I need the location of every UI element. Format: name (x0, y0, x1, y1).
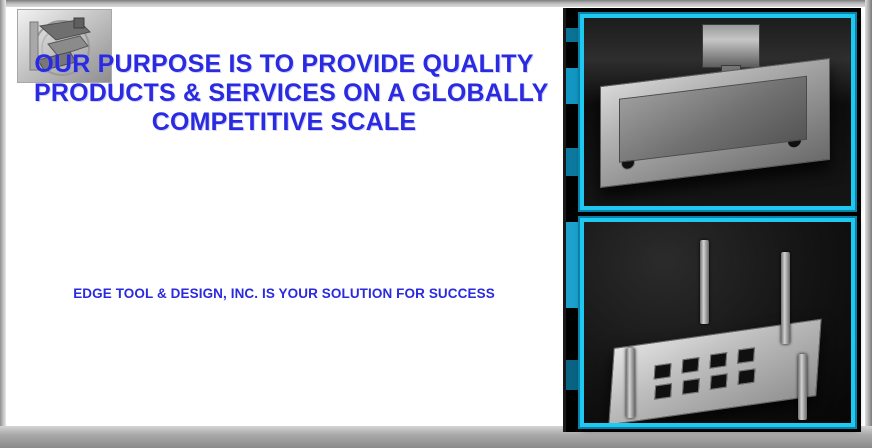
guide-pin (781, 252, 790, 344)
tagline-text: EDGE TOOL & DESIGN, INC. IS YOUR SOLUTIO… (34, 286, 534, 301)
guide-pin (626, 348, 635, 418)
guide-pin (798, 354, 807, 420)
photo-artwork (584, 222, 851, 423)
slide-frame-right (865, 0, 872, 448)
slide-frame-top (0, 0, 872, 7)
plate-pocket (738, 368, 756, 385)
photo-artwork (584, 18, 851, 206)
guide-pin (700, 240, 709, 324)
machine-head (702, 24, 760, 68)
plate-pocket (709, 352, 727, 369)
headline-line-1: OUR PURPOSE IS TO PROVIDE QUALITY (34, 50, 534, 79)
photo-mold-plate (580, 218, 855, 427)
plate-pocket (654, 383, 672, 400)
photo-cnc-mold-base (580, 14, 855, 210)
plate-pocket (710, 373, 728, 390)
photo-panel (563, 8, 861, 432)
cyan-accent-strip (566, 8, 580, 432)
headline-line-3: COMPETITIVE SCALE (34, 108, 534, 137)
plate-pocket (682, 378, 700, 395)
mold-cavity (635, 105, 679, 142)
plate-pocket (737, 347, 755, 364)
presentation-slide: OUR PURPOSE IS TO PROVIDE QUALITY PRODUC… (0, 0, 872, 448)
mold-bore (787, 132, 802, 149)
mold-cavity (737, 95, 779, 130)
mold-bore (621, 155, 635, 171)
headline-line-2: PRODUCTS & SERVICES ON A GLOBALLY (34, 79, 534, 108)
plate-pocket (654, 363, 672, 380)
plate-pocket (682, 357, 700, 374)
mold-cavity (685, 97, 731, 137)
slide-frame-left (0, 0, 6, 448)
page-title: OUR PURPOSE IS TO PROVIDE QUALITY PRODUC… (34, 50, 534, 137)
